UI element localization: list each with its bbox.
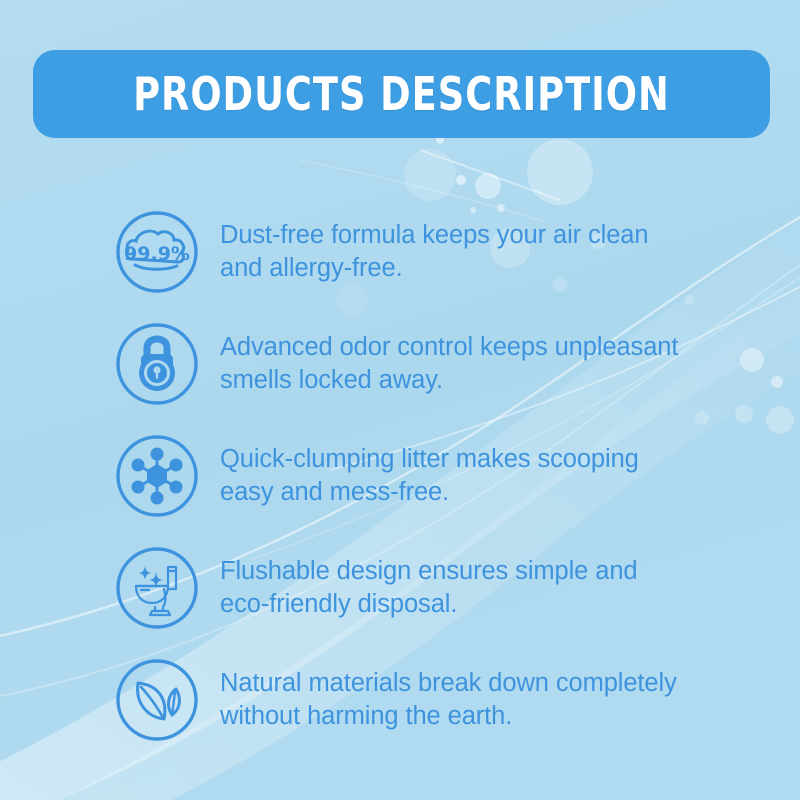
padlock-icon	[114, 321, 200, 407]
bubble	[404, 149, 456, 201]
molecule-icon	[114, 433, 200, 519]
page-title: PRODUCTS DESCRIPTION	[133, 67, 670, 121]
feature-text-line-1: Flushable design ensures simple and	[220, 555, 638, 588]
feature-text-line-2: smells locked away.	[220, 364, 678, 397]
feature-row: Natural materials break down completely …	[0, 644, 800, 756]
feature-text: Advanced odor control keeps unpleasant s…	[220, 331, 678, 397]
header-banner: PRODUCTS DESCRIPTION	[33, 50, 770, 138]
feature-text-line-1: Quick-clumping litter makes scooping	[220, 443, 639, 476]
feature-text-line-1: Dust-free formula keeps your air clean	[220, 219, 648, 252]
feature-row: 99.9% Dust-free formula keeps your air c…	[0, 196, 800, 308]
feature-text-line-1: Natural materials break down completely	[220, 667, 677, 700]
feature-row: Quick-clumping litter makes scooping eas…	[0, 420, 800, 532]
feature-row: Advanced odor control keeps unpleasant s…	[0, 308, 800, 420]
feature-list: 99.9% Dust-free formula keeps your air c…	[0, 196, 800, 756]
feature-row: Flushable design ensures simple and eco-…	[0, 532, 800, 644]
feature-text: Natural materials break down completely …	[220, 667, 677, 733]
feature-text: Flushable design ensures simple and eco-…	[220, 555, 638, 621]
product-description-infographic: PRODUCTS DESCRIPTION 99.9% Dust-free for…	[0, 0, 800, 800]
feature-text: Quick-clumping litter makes scooping eas…	[220, 443, 639, 509]
dust-free-cloud-icon: 99.9%	[114, 209, 200, 295]
wave-line-top	[420, 150, 560, 200]
toilet-sparkle-icon	[114, 545, 200, 631]
bubble	[456, 175, 466, 185]
feature-text-line-1: Advanced odor control keeps unpleasant	[220, 331, 678, 364]
feature-text-line-2: and allergy-free.	[220, 252, 648, 285]
feature-text-line-2: easy and mess-free.	[220, 476, 639, 509]
feature-text-line-2: eco-friendly disposal.	[220, 588, 638, 621]
feature-text: Dust-free formula keeps your air clean a…	[220, 219, 648, 285]
feature-text-line-2: without harming the earth.	[220, 700, 677, 733]
icon-label: 99.9%	[124, 243, 190, 265]
leaves-icon	[114, 657, 200, 743]
